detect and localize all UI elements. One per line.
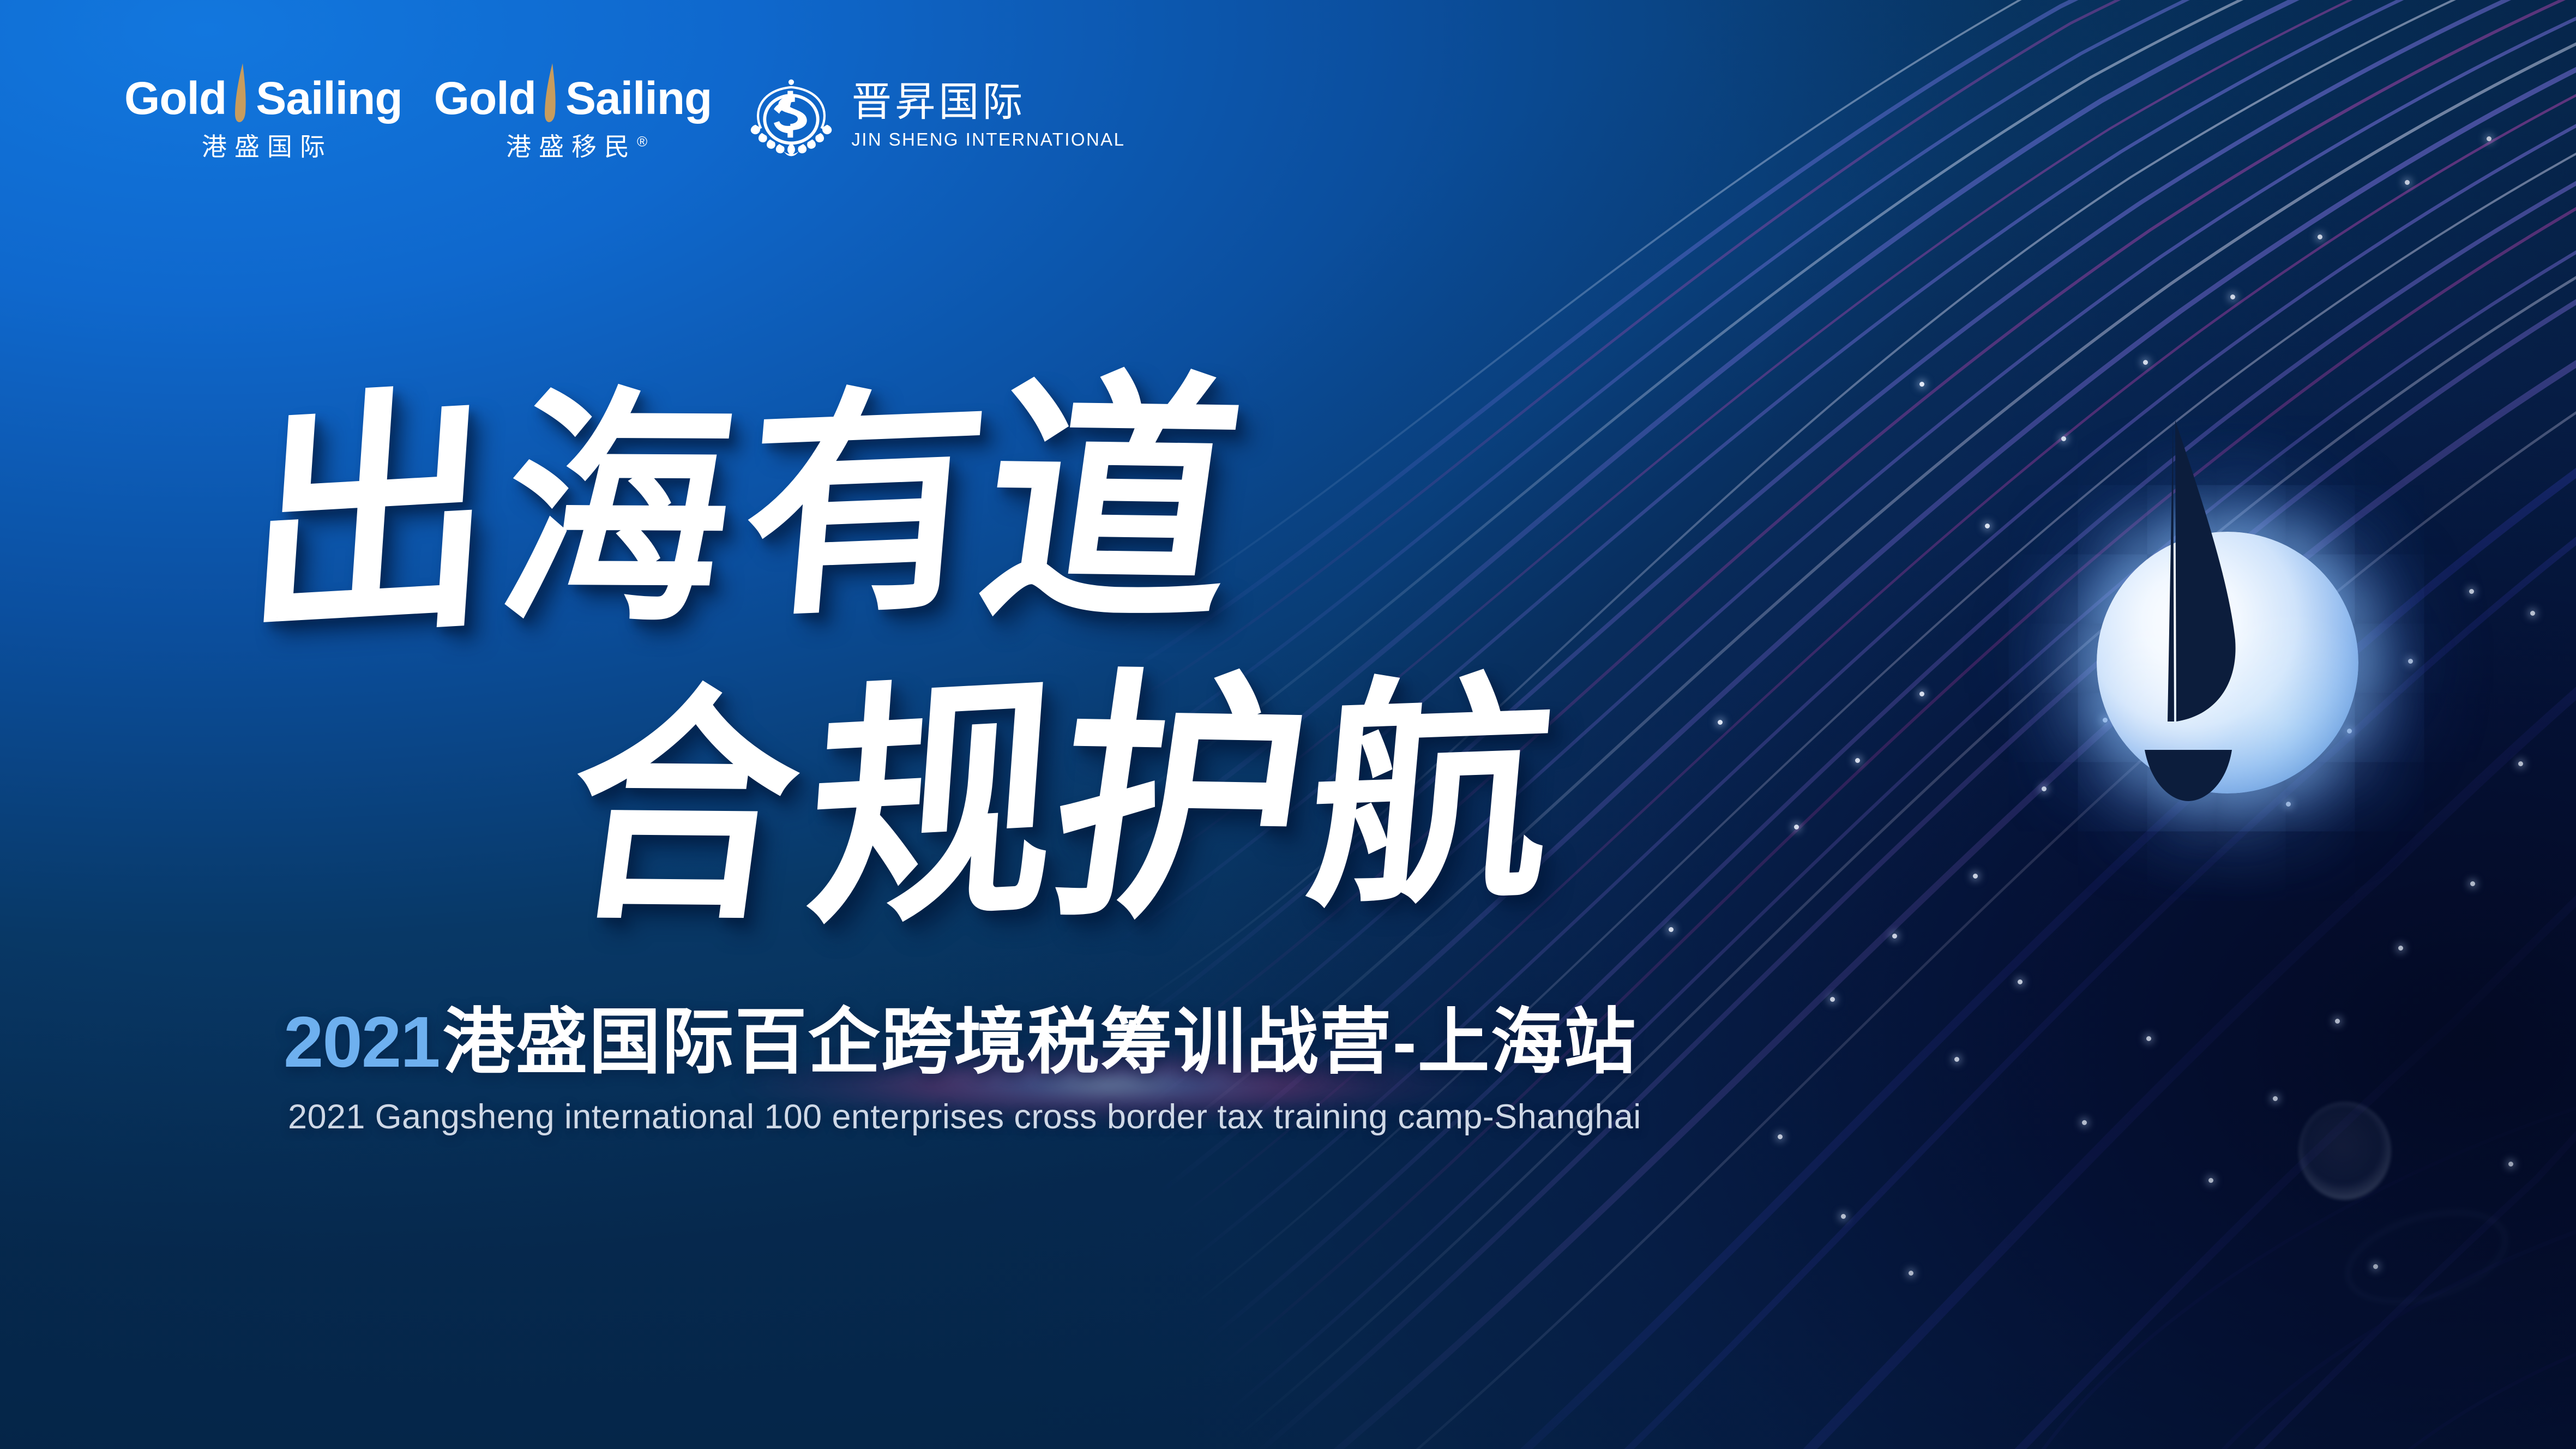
- logo-bar: Gold Sailing 港盛国际 Gold Sailing: [124, 70, 1125, 161]
- laurel-wreath-s-monogram-icon: [745, 70, 837, 161]
- logo-text-block: 晋昇国际 JIN SHENG INTERNATIONAL: [851, 81, 1125, 151]
- logo-gold-sailing-immigration[interactable]: Gold Sailing 港盛移民®: [434, 70, 712, 159]
- logo-wordmark: Gold Sailing: [124, 70, 402, 127]
- subtitle-chinese-text: 港盛国际百企跨境税筹训战营-上海站: [443, 1002, 1637, 1082]
- subtitle-chinese: 2021港盛国际百企跨境税筹训战营-上海站: [284, 1006, 1637, 1078]
- gold-sail-icon: [538, 70, 562, 127]
- logo-chinese-name: 港盛移民®: [498, 134, 647, 159]
- logo-word-gold: Gold: [124, 75, 226, 121]
- logo-word-sailing: Sailing: [256, 75, 402, 121]
- subtitle-english: 2021 Gangsheng international 100 enterpr…: [288, 1100, 1641, 1134]
- headline-line-2: 合规护航: [550, 602, 1582, 959]
- headline-char: 合: [550, 605, 836, 967]
- logo-english-name: JIN SHENG INTERNATIONAL: [851, 129, 1125, 150]
- logo-chinese-name: 晋昇国际: [851, 81, 1125, 123]
- subtitle-year: 2021: [284, 1002, 440, 1082]
- logo-chinese-text: 港盛移民: [506, 133, 637, 161]
- logo-chinese-name: 港盛国际: [194, 134, 333, 159]
- banner-canvas: Gold Sailing 港盛国际 Gold Sailing: [0, 0, 2576, 1449]
- headline-char: 出: [238, 300, 520, 688]
- gold-sail-icon: [228, 70, 252, 127]
- logo-wordmark: Gold Sailing: [434, 70, 712, 127]
- logo-gold-sailing-international[interactable]: Gold Sailing 港盛国际: [124, 70, 402, 159]
- registered-trademark-icon: ®: [637, 134, 647, 150]
- headline-char: 航: [1298, 596, 1583, 951]
- sailboat-silhouette-icon: [2092, 416, 2300, 820]
- logo-word-gold: Gold: [434, 75, 536, 121]
- logo-word-sailing: Sailing: [565, 75, 712, 121]
- moon-sailboat-artwork: [2097, 532, 2358, 793]
- logo-jin-sheng-international[interactable]: 晋昇国际 JIN SHENG INTERNATIONAL: [745, 70, 1125, 161]
